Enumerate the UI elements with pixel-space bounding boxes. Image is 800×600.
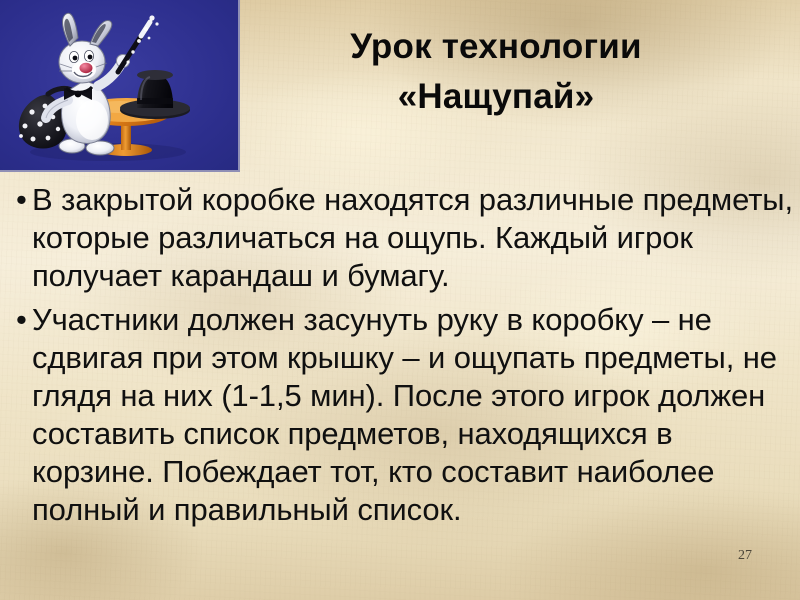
top-hat xyxy=(120,70,190,119)
bullet-list: • В закрытой коробке находятся различные… xyxy=(10,181,794,535)
slide-canvas: Урок технологии «Нащупай» • В закрытой к… xyxy=(0,0,800,600)
slide-title: Урок технологии «Нащупай» xyxy=(246,22,746,122)
list-item: • В закрытой коробке находятся различные… xyxy=(10,181,794,295)
magic-wand xyxy=(118,15,159,72)
bullet-text: Участники должен засунуть руку в коробку… xyxy=(32,301,794,529)
page-number: 27 xyxy=(738,548,752,564)
list-item: • Участники должен засунуть руку в короб… xyxy=(10,301,794,529)
bullet-marker-icon: • xyxy=(10,181,32,219)
title-line-2: «Нащупай» xyxy=(246,72,746,122)
bullet-marker-icon: • xyxy=(10,301,32,339)
magician-rabbit-illustration xyxy=(0,0,240,172)
bullet-text: В закрытой коробке находятся различные п… xyxy=(32,181,794,295)
title-line-1: Урок технологии xyxy=(246,22,746,72)
